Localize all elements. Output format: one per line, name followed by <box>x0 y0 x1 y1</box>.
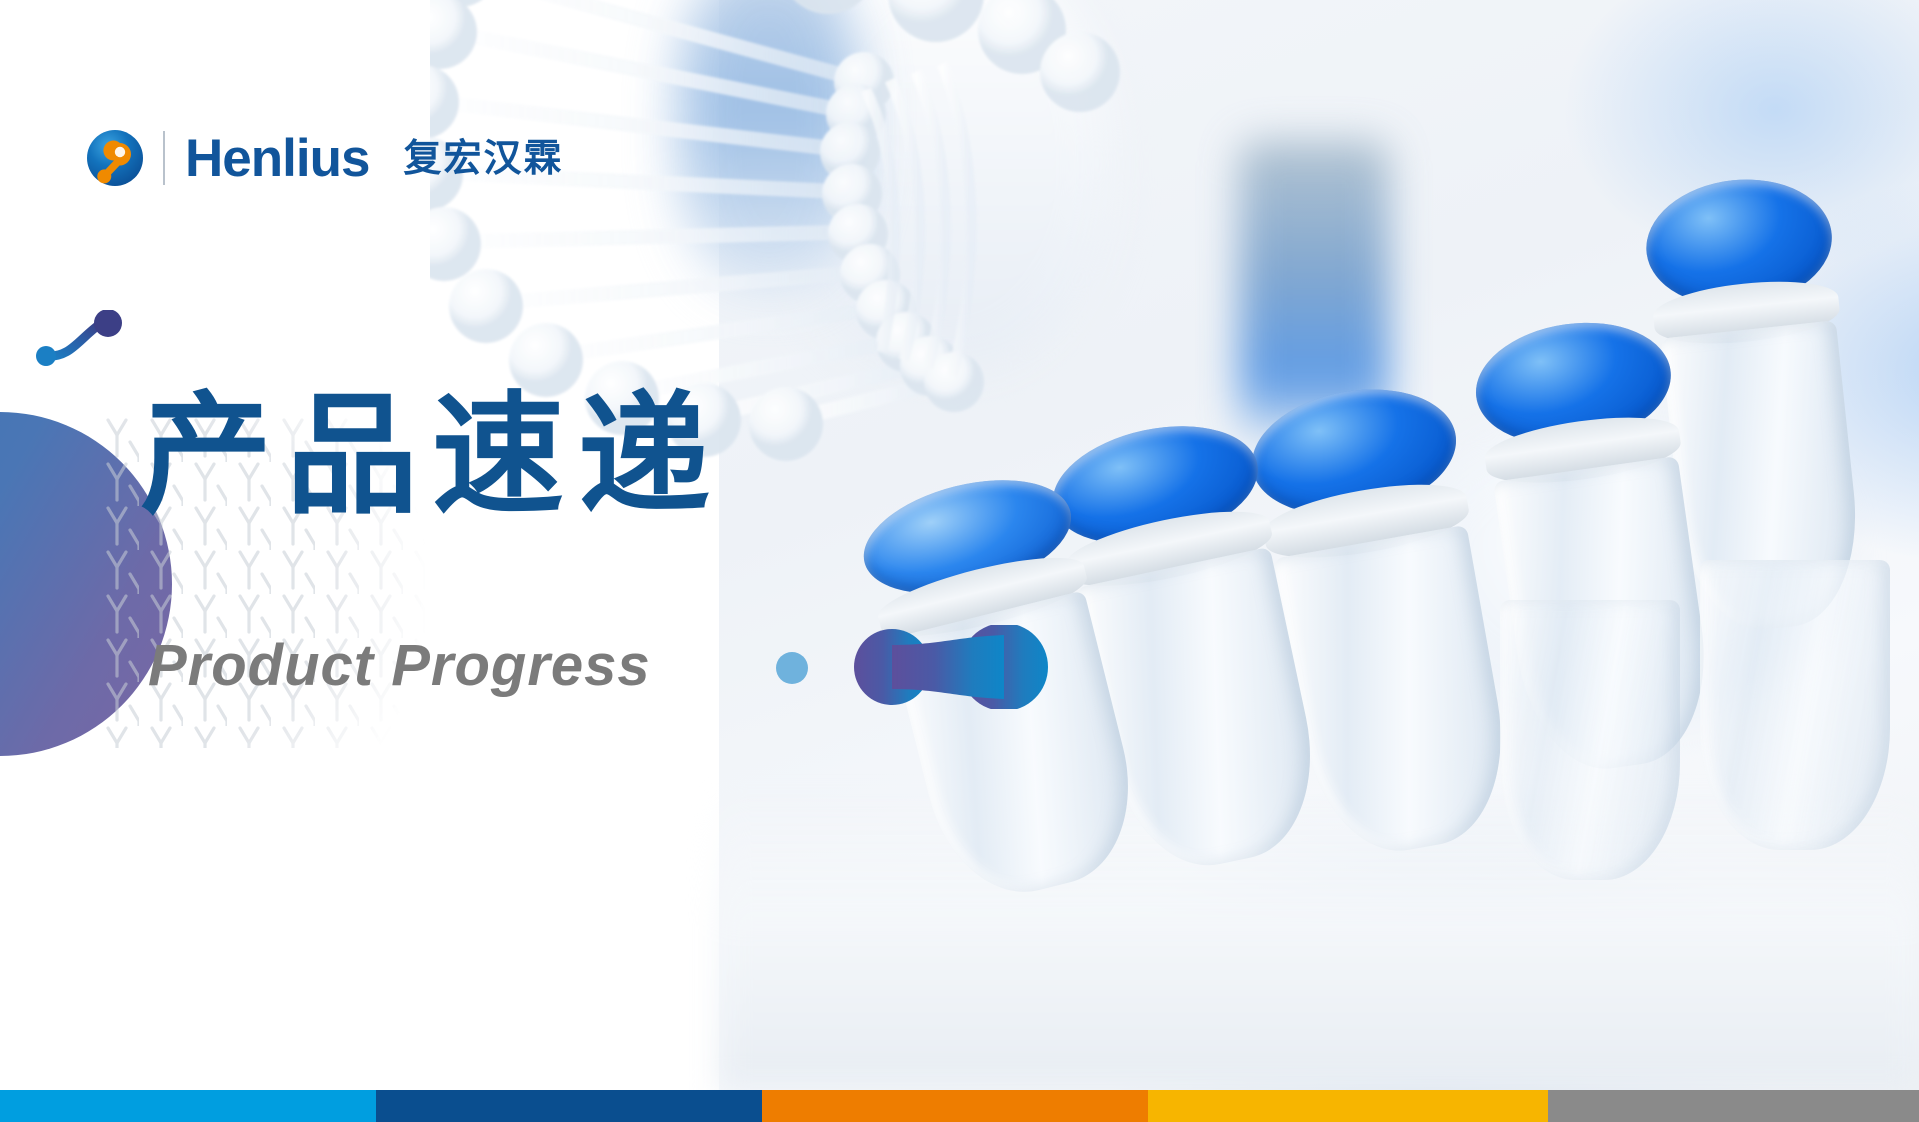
molecule-dumbbell-small-icon <box>36 310 142 370</box>
page-title-cn: 产品速递 <box>140 385 724 528</box>
bar-segment-yellow <box>1148 1090 1548 1122</box>
logo-divider <box>163 131 165 185</box>
brand-name-cn: 复宏汉霖 <box>403 139 563 177</box>
bottom-color-bar <box>0 1090 1919 1122</box>
henlius-molecule-logo-icon <box>85 128 145 188</box>
bar-segment-grey <box>1548 1090 1919 1122</box>
page-subtitle-en: Product Progress <box>148 637 651 695</box>
slide-canvas: Henlius 复宏汉霖 产品速递 Product Progress <box>0 0 1919 1122</box>
bar-segment-light-blue <box>0 1090 376 1122</box>
molecule-dumbbell-icon <box>852 625 1048 709</box>
bar-segment-orange <box>762 1090 1148 1122</box>
brand-name: Henlius <box>185 132 369 185</box>
bar-segment-dark-blue <box>376 1090 762 1122</box>
brand-logo: Henlius 复宏汉霖 <box>85 128 563 188</box>
light-blue-dot-decor <box>776 652 808 684</box>
